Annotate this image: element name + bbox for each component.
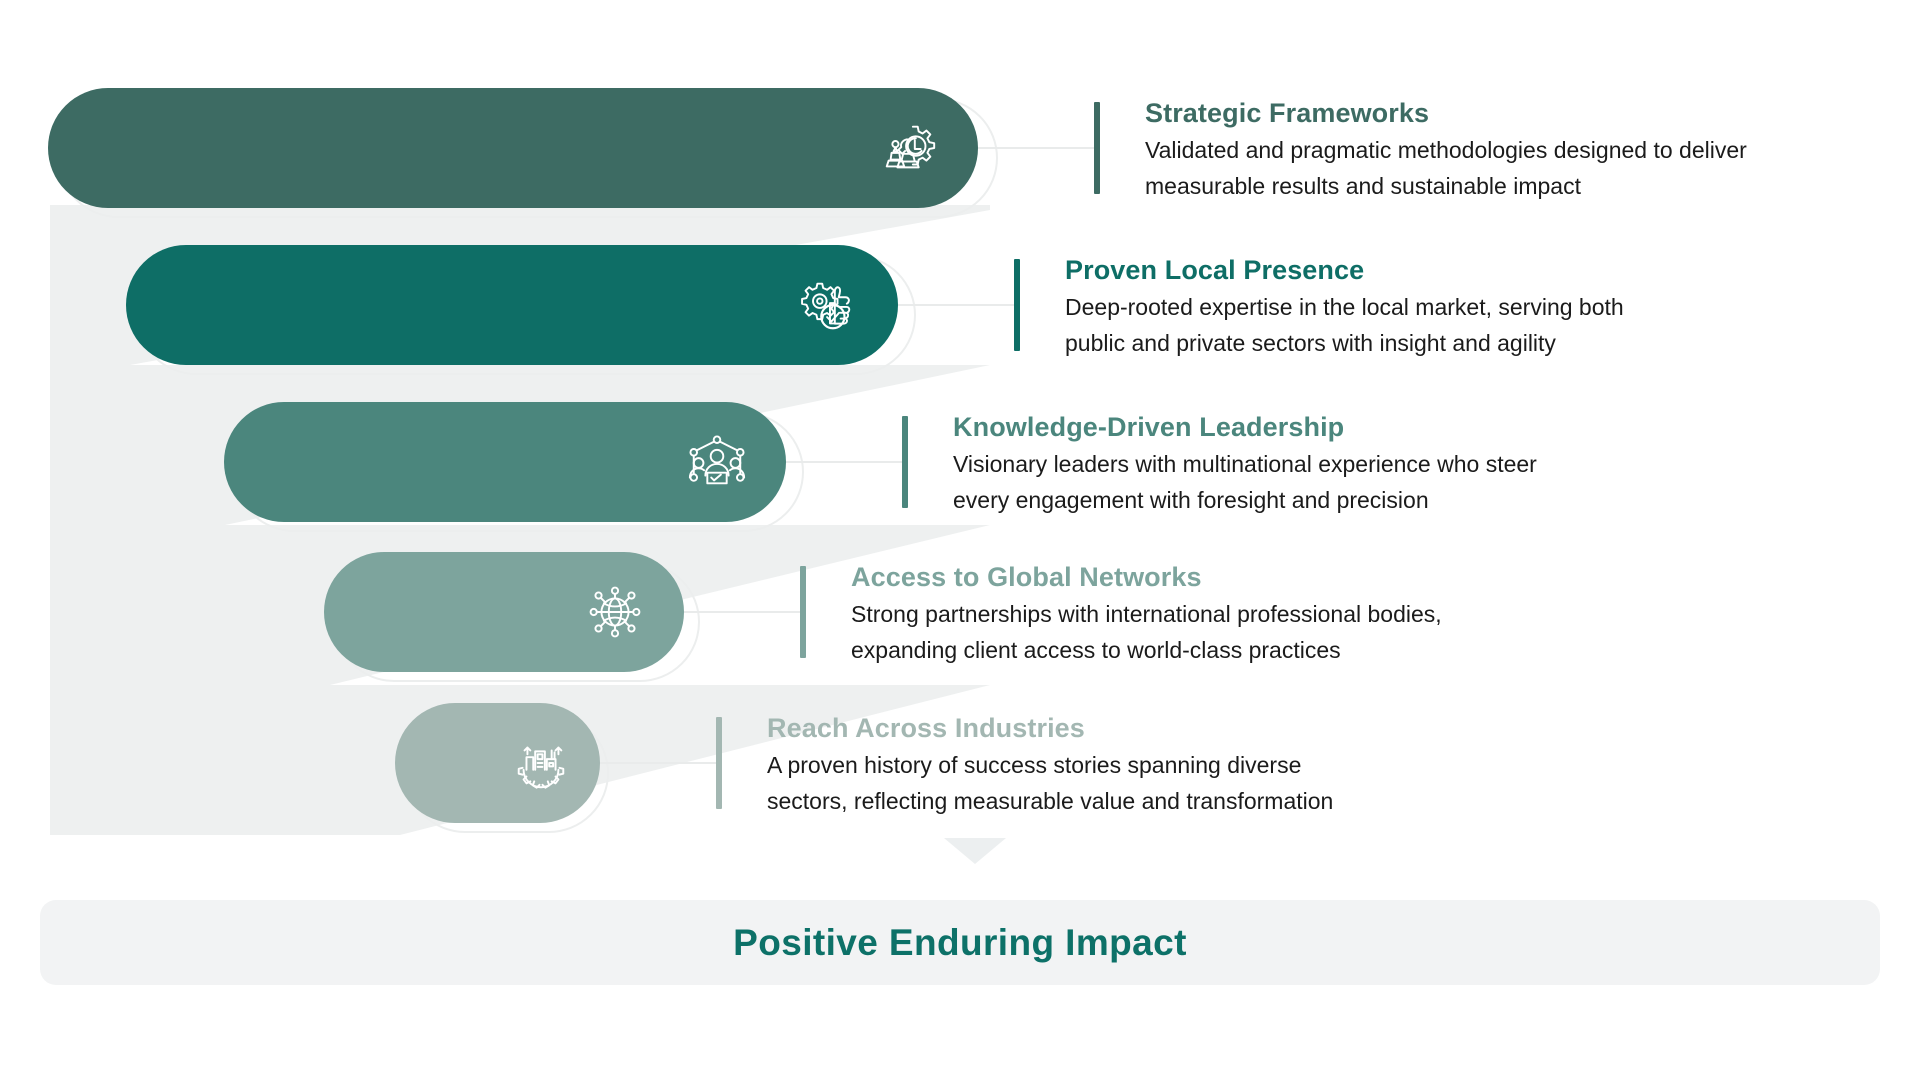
infographic-funnel-slide: Strategic Frameworks Validated and pragm… (0, 0, 1920, 1080)
outcome-label: Positive Enduring Impact (733, 922, 1187, 964)
funnel-bar-2[interactable] (126, 245, 898, 365)
item-desc-line: expanding client access to world-class p… (851, 632, 1442, 668)
item-desc-line: Visionary leaders with multinational exp… (953, 446, 1537, 482)
item-desc-line: Strong partnerships with international p… (851, 596, 1442, 632)
accent-bar-4 (800, 566, 806, 658)
accent-bar-5 (716, 717, 722, 809)
item-desc-line: every engagement with foresight and prec… (953, 482, 1537, 518)
connector-line-1 (978, 147, 1094, 149)
team-network-leadership-icon (686, 431, 748, 493)
item-title-1: Strategic Frameworks (1145, 94, 1747, 132)
connector-line-3 (786, 461, 902, 463)
item-desc-line: measurable results and sustainable impac… (1145, 168, 1747, 204)
item-desc-4: Strong partnerships with international p… (851, 596, 1442, 668)
gear-thumbsup-check-icon (798, 274, 860, 336)
item-title-3: Knowledge-Driven Leadership (953, 408, 1537, 446)
connector-line-5 (600, 762, 716, 764)
funnel-bar-1[interactable] (48, 88, 978, 208)
text-block-2: Proven Local Presence Deep-rooted expert… (1065, 251, 1624, 361)
item-desc-5: A proven history of success stories span… (767, 747, 1333, 819)
accent-bar-2 (1014, 259, 1020, 351)
accent-bar-1 (1094, 102, 1100, 194)
item-title-5: Reach Across Industries (767, 709, 1333, 747)
text-block-1: Strategic Frameworks Validated and pragm… (1145, 94, 1747, 204)
factory-gear-growth-icon (510, 732, 572, 794)
item-title-2: Proven Local Presence (1065, 251, 1624, 289)
funnel-bar-5[interactable] (395, 703, 600, 823)
accent-bar-3 (902, 416, 908, 508)
item-desc-3: Visionary leaders with multinational exp… (953, 446, 1537, 518)
text-block-5: Reach Across Industries A proven history… (767, 709, 1333, 819)
down-arrow-icon (944, 838, 1006, 864)
item-desc-line: Validated and pragmatic methodologies de… (1145, 132, 1747, 168)
gear-chess-strategy-icon (878, 117, 940, 179)
item-desc-line: A proven history of success stories span… (767, 747, 1333, 783)
text-block-4: Access to Global Networks Strong partner… (851, 558, 1442, 668)
item-desc-line: sectors, reflecting measurable value and… (767, 783, 1333, 819)
funnel-bar-3[interactable] (224, 402, 786, 522)
funnel-bar-4[interactable] (324, 552, 684, 672)
outcome-banner[interactable]: Positive Enduring Impact (40, 900, 1880, 985)
globe-network-icon (584, 581, 646, 643)
text-block-3: Knowledge-Driven Leadership Visionary le… (953, 408, 1537, 518)
item-desc-line: Deep-rooted expertise in the local marke… (1065, 289, 1624, 325)
item-desc-line: public and private sectors with insight … (1065, 325, 1624, 361)
connector-line-4 (684, 611, 800, 613)
connector-line-2 (898, 304, 1014, 306)
item-title-4: Access to Global Networks (851, 558, 1442, 596)
item-desc-1: Validated and pragmatic methodologies de… (1145, 132, 1747, 204)
item-desc-2: Deep-rooted expertise in the local marke… (1065, 289, 1624, 361)
